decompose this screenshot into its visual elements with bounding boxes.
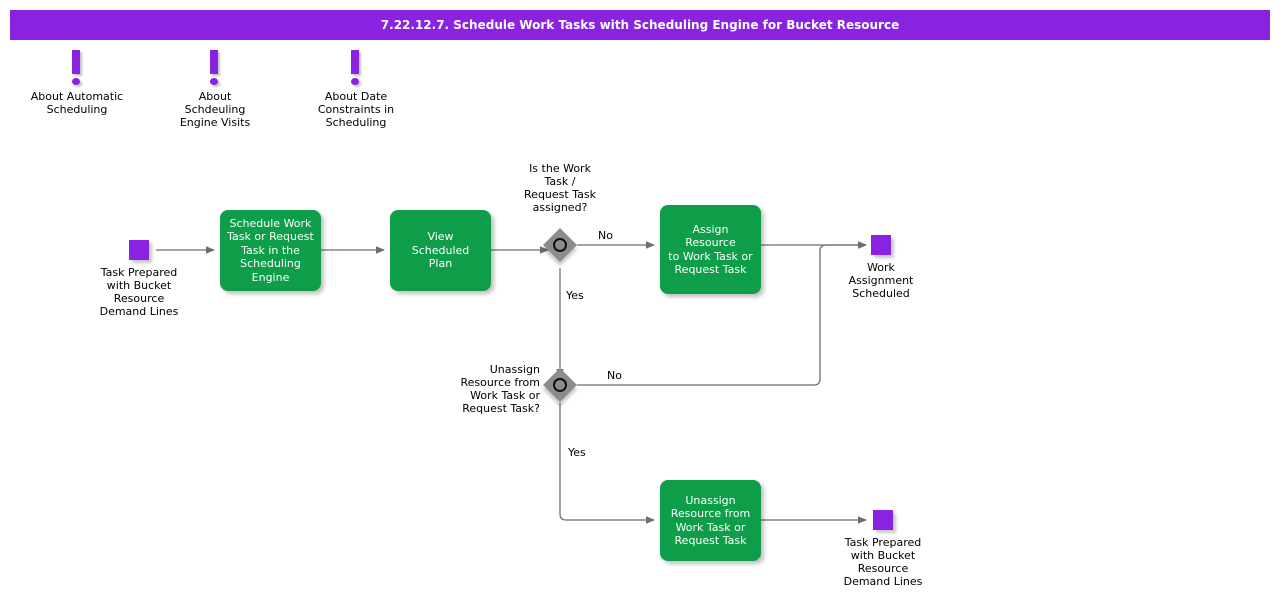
terminator-square-icon — [129, 240, 149, 260]
decision-is-task-assigned-label: Is the Work Task / Request Task assigned… — [493, 162, 627, 214]
note-label: About Date Constraints in Scheduling — [276, 90, 436, 129]
note-label: About Schdeuling Engine Visits — [135, 90, 295, 129]
process-view-scheduled-plan[interactable]: View Scheduled Plan — [390, 210, 491, 291]
process-schedule-work-task[interactable]: Schedule Work Task or Request Task in th… — [220, 210, 321, 291]
terminator-label: Work Assignment Scheduled — [806, 261, 956, 300]
note-about-scheduling-engine-visits[interactable]: About Schdeuling Engine Visits — [135, 50, 295, 129]
terminator-square-icon — [873, 510, 893, 530]
edge-label-decision1-no: No — [598, 229, 613, 242]
diagram-canvas: 7.22.12.7. Schedule Work Tasks with Sche… — [0, 0, 1280, 593]
process-assign-resource[interactable]: Assign Resource to Work Task or Request … — [660, 205, 761, 294]
decision-ring-icon — [553, 378, 567, 392]
exclamation-icon — [72, 50, 82, 86]
terminator-work-assignment-scheduled[interactable]: Work Assignment Scheduled — [806, 235, 956, 300]
terminator-task-prepared[interactable]: Task Prepared with Bucket Resource Deman… — [808, 510, 958, 588]
edge-label-decision2-yes: Yes — [568, 446, 586, 459]
page-title: 7.22.12.7. Schedule Work Tasks with Sche… — [10, 10, 1270, 40]
note-label: About Automatic Scheduling — [0, 90, 157, 116]
terminator-start[interactable]: Task Prepared with Bucket Resource Deman… — [64, 240, 214, 318]
edge-label-decision1-yes: Yes — [566, 289, 584, 302]
decision-unassign-resource[interactable] — [543, 368, 577, 402]
note-about-date-constraints-in-scheduling[interactable]: About Date Constraints in Scheduling — [276, 50, 436, 129]
note-about-automatic-scheduling[interactable]: About Automatic Scheduling — [0, 50, 157, 116]
decision-unassign-resource-label: Unassign Resource from Work Task or Requ… — [420, 363, 540, 415]
terminator-label: Task Prepared with Bucket Resource Deman… — [808, 536, 958, 588]
process-unassign-resource[interactable]: Unassign Resource from Work Task or Requ… — [660, 480, 761, 561]
edge-decision2-yes — [560, 403, 654, 520]
edge-label-decision2-no: No — [607, 369, 622, 382]
terminator-square-icon — [871, 235, 891, 255]
terminator-label: Task Prepared with Bucket Resource Deman… — [64, 266, 214, 318]
decision-is-task-assigned[interactable] — [543, 228, 577, 262]
exclamation-icon — [351, 50, 361, 86]
decision-ring-icon — [553, 238, 567, 252]
exclamation-icon — [210, 50, 220, 86]
